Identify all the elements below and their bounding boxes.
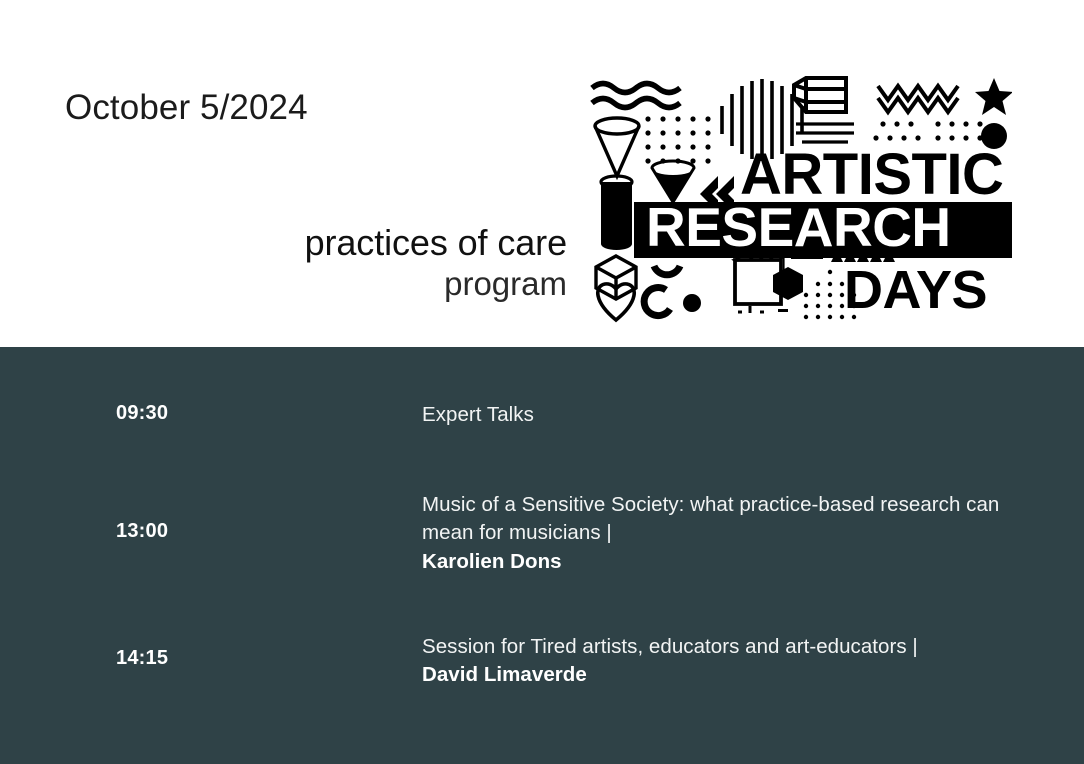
zigzag-icon [878, 86, 958, 112]
schedule-row: 13:00 Music of a Sensitive Society: what… [0, 491, 1084, 576]
cube-outline-icon [596, 256, 636, 299]
schedule-row-body: Session for Tired artists, educators and… [422, 633, 1084, 690]
arc-icon [644, 266, 680, 316]
schedule-row-time: 13:00 [0, 491, 422, 543]
subtitle-main: practices of care [0, 222, 567, 264]
schedule-row-body: Expert Talks [422, 401, 1084, 429]
cone-outline-icon [595, 118, 639, 176]
schedule-row-body: Music of a Sensitive Society: what pract… [422, 491, 1084, 576]
dot-grid-icon [645, 116, 710, 163]
artistic-research-days-logo: ARTISTIC RESEARCH DAYS [588, 76, 1012, 324]
schedule-row-title: Music of a Sensitive Society: what pract… [422, 491, 1044, 548]
subtitle-block: practices of care program [0, 222, 567, 304]
wave-icon [592, 84, 680, 108]
schedule-row: 09:30 Expert Talks [0, 401, 1084, 429]
cylinder-icon [601, 176, 632, 250]
small-dash-icon [778, 309, 788, 312]
hex-prism-icon [794, 78, 846, 112]
dot-icon [683, 294, 701, 312]
schedule-row-title: Expert Talks [422, 401, 1044, 429]
poster-header: October 5/2024 practices of care program [0, 0, 1084, 347]
poster-canvas: October 5/2024 practices of care program [0, 0, 1084, 764]
logo-word-days: DAYS [844, 260, 987, 320]
schedule-row: 14:15 Session for Tired artists, educato… [0, 633, 1084, 690]
schedule-section: 09:30 Expert Talks 13:00 Music of a Sens… [0, 347, 1084, 764]
subtitle-sub: program [0, 264, 567, 304]
logo-word-research: RESEARCH [646, 196, 951, 258]
dot-rows-icon [873, 121, 982, 140]
schedule-row-speaker: Karolien Dons [422, 548, 1044, 576]
schedule-row-speaker: David Limaverde [422, 661, 1044, 689]
schedule-row-time: 14:15 [0, 633, 422, 670]
underline-rules-icon [796, 124, 854, 142]
star-icon [975, 78, 1012, 115]
schedule-row-time: 09:30 [0, 401, 422, 425]
heart-outline-icon [598, 284, 634, 320]
schedule-row-title: Session for Tired artists, educators and… [422, 633, 1044, 661]
page-title: October 5/2024 [65, 88, 308, 128]
